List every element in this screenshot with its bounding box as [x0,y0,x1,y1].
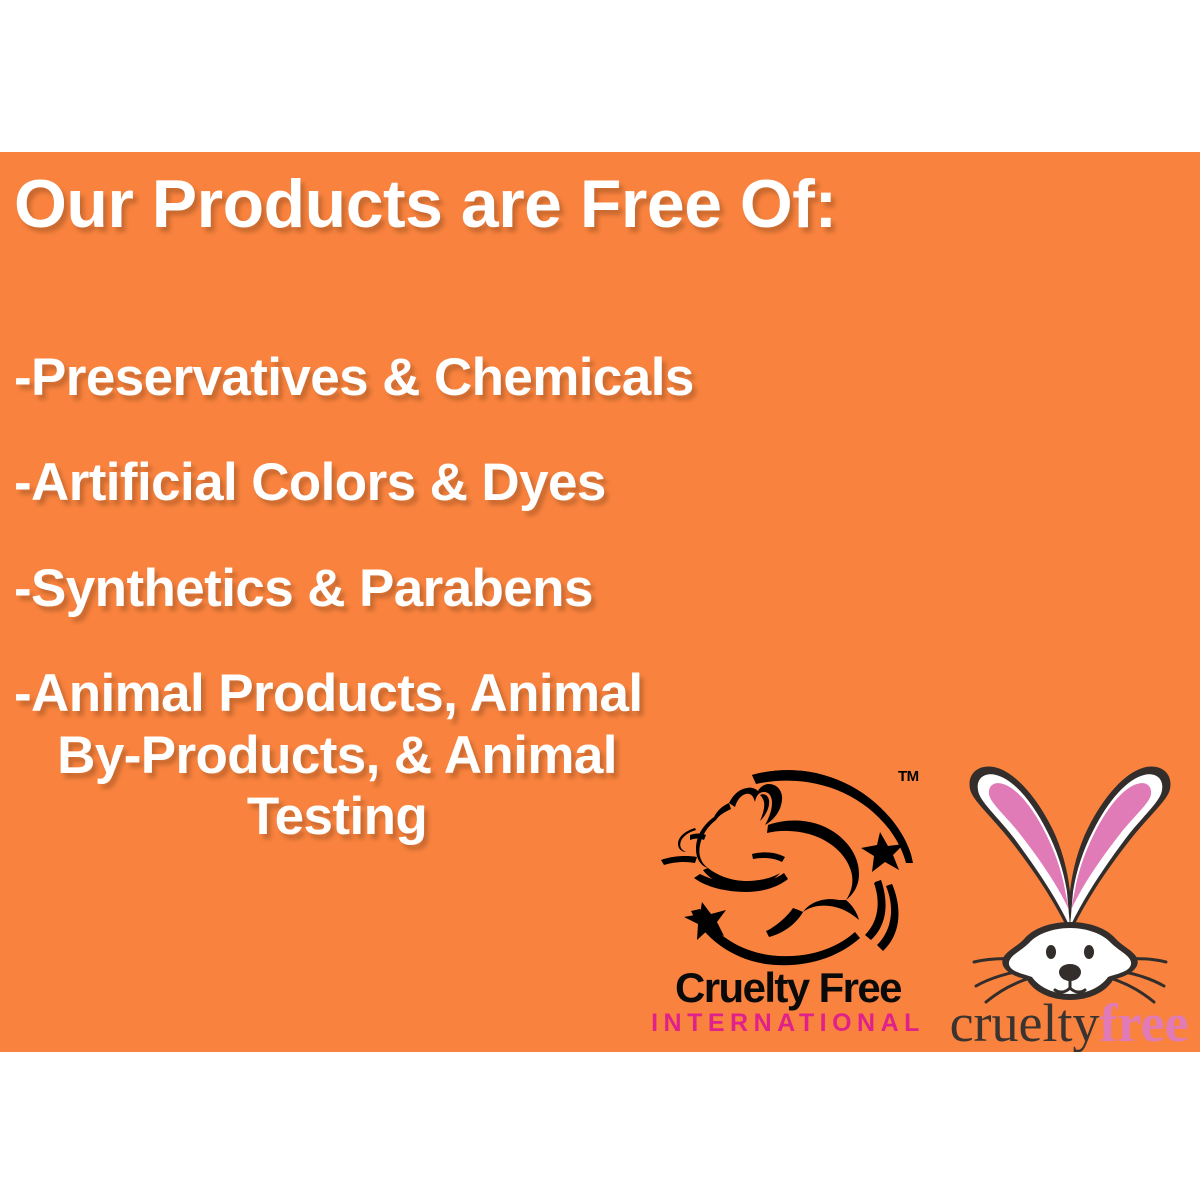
trademark-symbol: TM [898,768,919,785]
page-title: Our Products are Free Of: [14,170,1014,238]
free-of-list: -Preservatives & Chemicals -Artificial C… [0,347,700,848]
list-item: -Artificial Colors & Dyes [0,408,700,513]
list-item-line: -Animal Products, Animal [14,663,660,724]
list-item: -Preservatives & Chemicals [0,347,700,408]
leaping-bunny-icon [656,762,926,970]
certification-logos: TM Cruelty Free INTERNATIONAL [648,752,1200,1052]
list-item-line: By-Products, & Animal [14,725,660,786]
cruelty-free-wordmark: Cruelty Free [648,967,928,1009]
list-item: -Synthetics & Parabens [0,514,700,619]
list-item: -Animal Products, Animal By-Products, & … [0,619,660,847]
orange-content-panel: Our Products are Free Of: -Preservatives… [0,152,1200,1052]
cruelty-free-heart-logo: crueltyfree [934,752,1200,1052]
cruelty-free-heart-wordmark: crueltyfree [926,996,1200,1050]
slide-canvas: Our Products are Free Of: -Preservatives… [0,0,1200,1200]
cruelty-free-international-logo: TM Cruelty Free INTERNATIONAL [648,752,928,1052]
list-item-line: Testing [14,786,660,847]
wordmark-part-cruelty: cruelty [950,993,1100,1052]
wordmark-part-free: free [1100,993,1189,1052]
bunny-heart-ears-icon [958,764,1182,1012]
international-wordmark: INTERNATIONAL [648,1011,928,1036]
